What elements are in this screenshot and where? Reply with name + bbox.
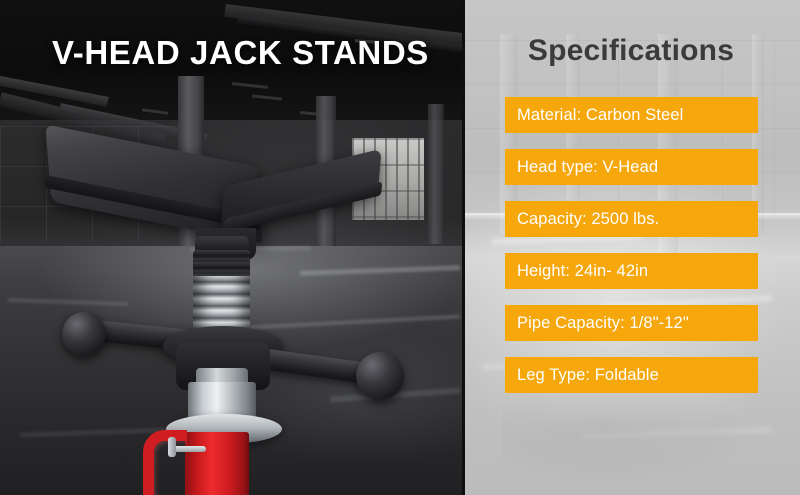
- page-title: V-HEAD JACK STANDS: [52, 34, 429, 72]
- spec-row-head-type: Head type: V-Head: [505, 149, 758, 185]
- specifications-panel: Specifications Material: Carbon Steel He…: [462, 0, 800, 495]
- panel-divider: [462, 0, 465, 495]
- product-photo: [0, 0, 462, 495]
- infographic-canvas: V-HEAD JACK STANDS Specifications Materi…: [0, 0, 800, 495]
- product-hero-panel: V-HEAD JACK STANDS: [0, 0, 462, 495]
- locking-pin-handle: [143, 430, 187, 495]
- specifications-heading: Specifications: [462, 34, 800, 68]
- spec-row-leg-type: Leg Type: Foldable: [505, 357, 758, 393]
- spec-row-pipe-capacity: Pipe Capacity: 1/8"-12": [505, 305, 758, 341]
- spec-row-capacity: Capacity: 2500 lbs.: [505, 201, 758, 237]
- handle-ball-left: [62, 312, 106, 356]
- spec-row-material: Material: Carbon Steel: [505, 97, 758, 133]
- specifications-list: Material: Carbon Steel Head type: V-Head…: [505, 97, 758, 409]
- locking-pin-rod-end: [168, 437, 176, 457]
- spec-row-height: Height: 24in- 42in: [505, 253, 758, 289]
- red-base-tube: [185, 432, 249, 495]
- handle-ball-right: [356, 352, 404, 400]
- threaded-screw-shadow: [193, 250, 250, 276]
